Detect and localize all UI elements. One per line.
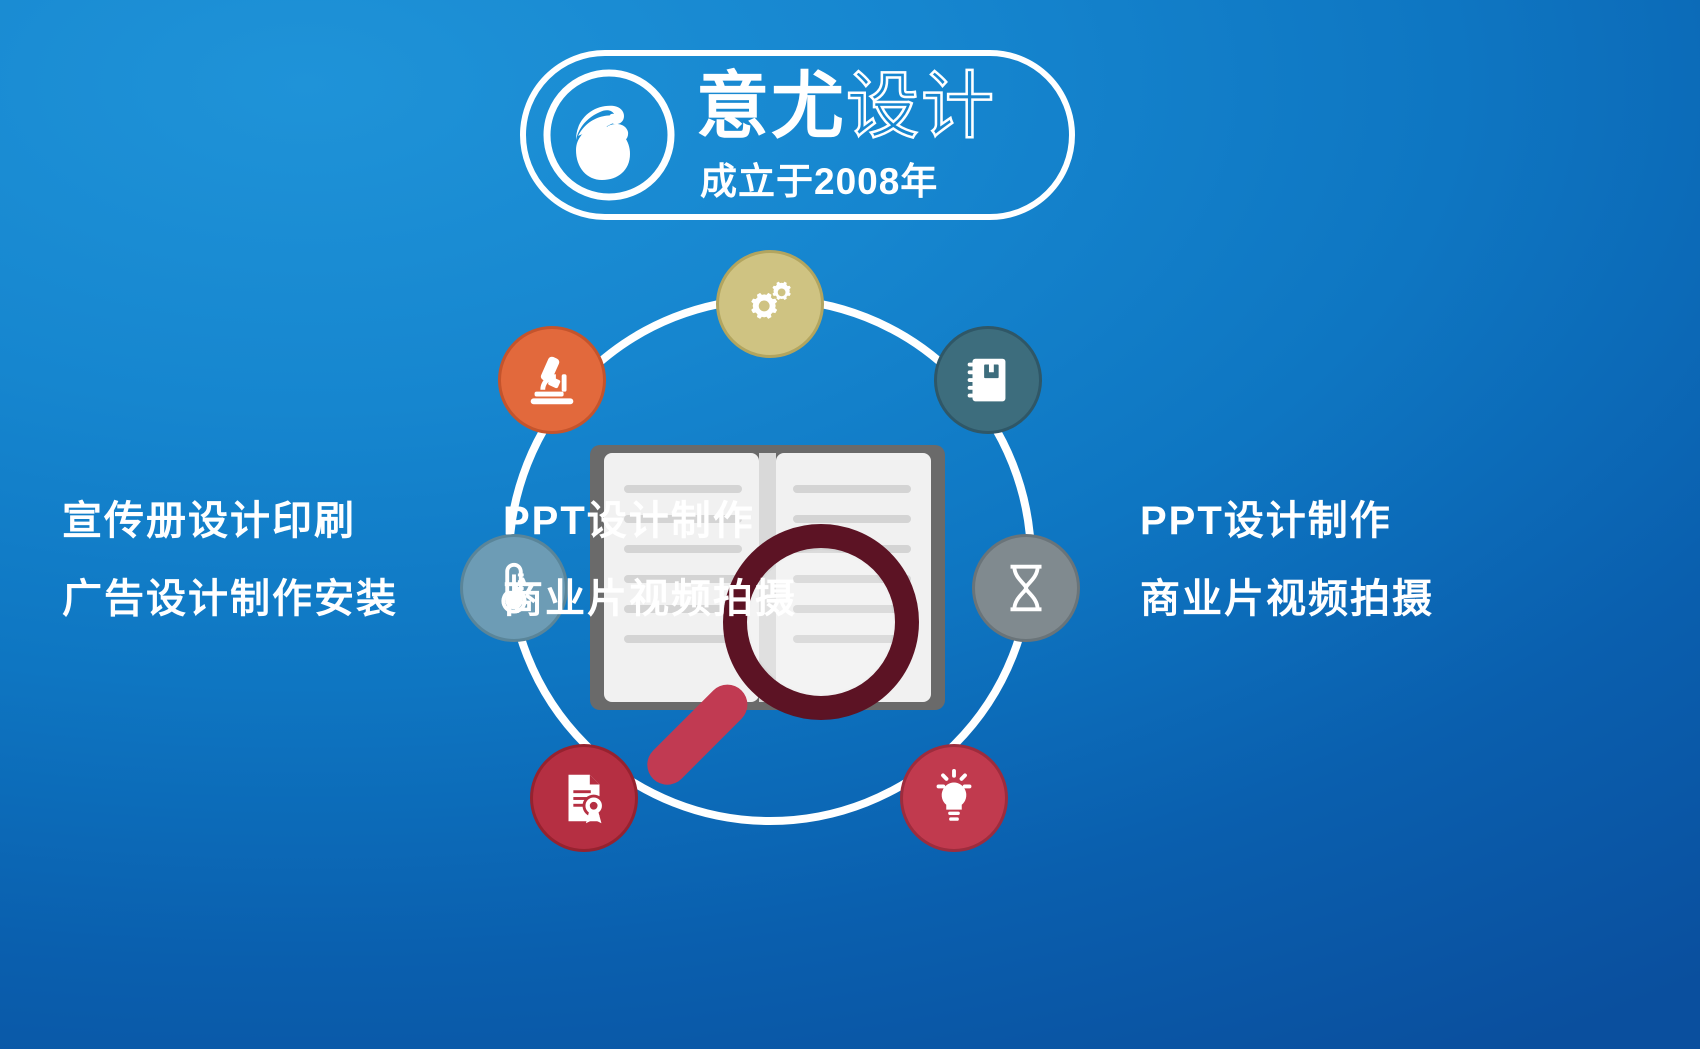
node-gears[interactable] xyxy=(716,250,824,358)
poster-canvas: 意尤设计 成立于2008年 xyxy=(0,0,1700,1049)
brand-logo: 意尤设计 成立于2008年 xyxy=(520,50,1075,220)
service-right-line2: 商业片视频拍摄 xyxy=(1140,560,1434,638)
certificate-icon xyxy=(553,767,615,829)
service-center-line1: PPT设计制作 xyxy=(503,482,797,560)
node-certificate[interactable] xyxy=(530,744,638,852)
node-notebook[interactable] xyxy=(934,326,1042,434)
microscope-icon xyxy=(521,349,583,411)
notebook-icon xyxy=(957,349,1019,411)
node-microscope[interactable] xyxy=(498,326,606,434)
brand-tagline: 成立于2008年 xyxy=(700,160,938,204)
service-text-right: PPT设计制作 商业片视频拍摄 xyxy=(1140,482,1434,638)
service-left-line1: 宣传册设计印刷 xyxy=(62,482,398,560)
hourglass-icon xyxy=(995,557,1057,619)
service-text-center: PPT设计制作 商业片视频拍摄 xyxy=(503,482,797,638)
brand-name: 意尤设计 xyxy=(696,64,996,150)
brand-name-solid: 意尤 xyxy=(696,66,846,147)
gears-icon xyxy=(739,273,801,335)
service-text-left: 宣传册设计印刷 广告设计制作安装 xyxy=(62,482,398,638)
brand-name-outline: 设计 xyxy=(846,66,996,147)
logo-wordmark: 意尤设计 成立于2008年 xyxy=(696,68,1056,202)
bird-leaf-mark-icon xyxy=(542,68,676,202)
service-right-line1: PPT设计制作 xyxy=(1140,482,1434,560)
service-center-line2: 商业片视频拍摄 xyxy=(503,560,797,638)
node-hourglass[interactable] xyxy=(972,534,1080,642)
service-left-line2: 广告设计制作安装 xyxy=(62,560,398,638)
